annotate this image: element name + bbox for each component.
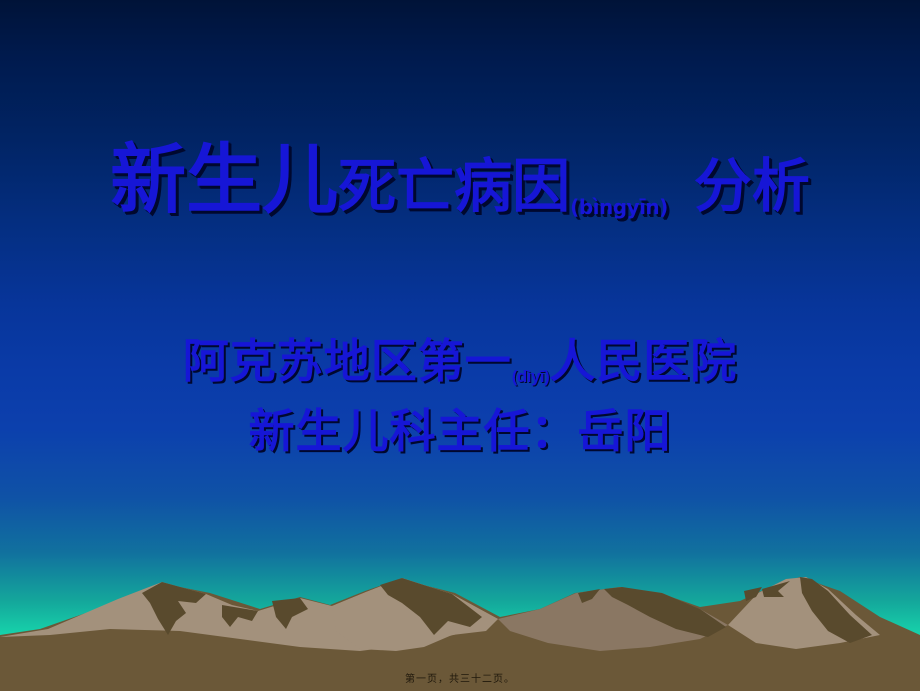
title-part-large: 新生儿 — [110, 135, 338, 224]
title-pinyin-annotation: (bìngyīn) — [570, 195, 668, 219]
mountain-silhouette-svg — [0, 531, 920, 691]
subtitle-line-1: 阿克苏地区第一(dìyī)人民医院 — [0, 332, 920, 402]
mountain-range-decoration — [0, 531, 920, 691]
slide-title: 新生儿死亡病因(bìngyīn)分析 — [0, 118, 920, 228]
footer-text: 第一页，共三十二页。 — [405, 674, 515, 685]
subtitle-line1-after: 人民医院 — [549, 334, 737, 388]
slide-subtitle: 阿克苏地区第一(dìyī)人民医院 新生儿科主任：岳阳 — [0, 332, 920, 472]
title-part-medium: 死亡病因 — [338, 152, 570, 220]
subtitle-line-2: 新生儿科主任：岳阳 — [0, 402, 920, 472]
subtitle-pinyin-annotation: (dìyī) — [512, 367, 550, 386]
subtitle-line1-before: 阿克苏地区第一 — [183, 334, 512, 388]
presentation-slide: 新生儿死亡病因(bìngyīn)分析 阿克苏地区第一(dìyī)人民医院 新生儿… — [0, 0, 920, 691]
subtitle-line2-text: 新生儿科主任：岳阳 — [249, 404, 672, 458]
title-part-tail: 分析 — [694, 152, 810, 220]
slide-footer-page-indicator: 第一页，共三十二页。 — [0, 670, 920, 685]
